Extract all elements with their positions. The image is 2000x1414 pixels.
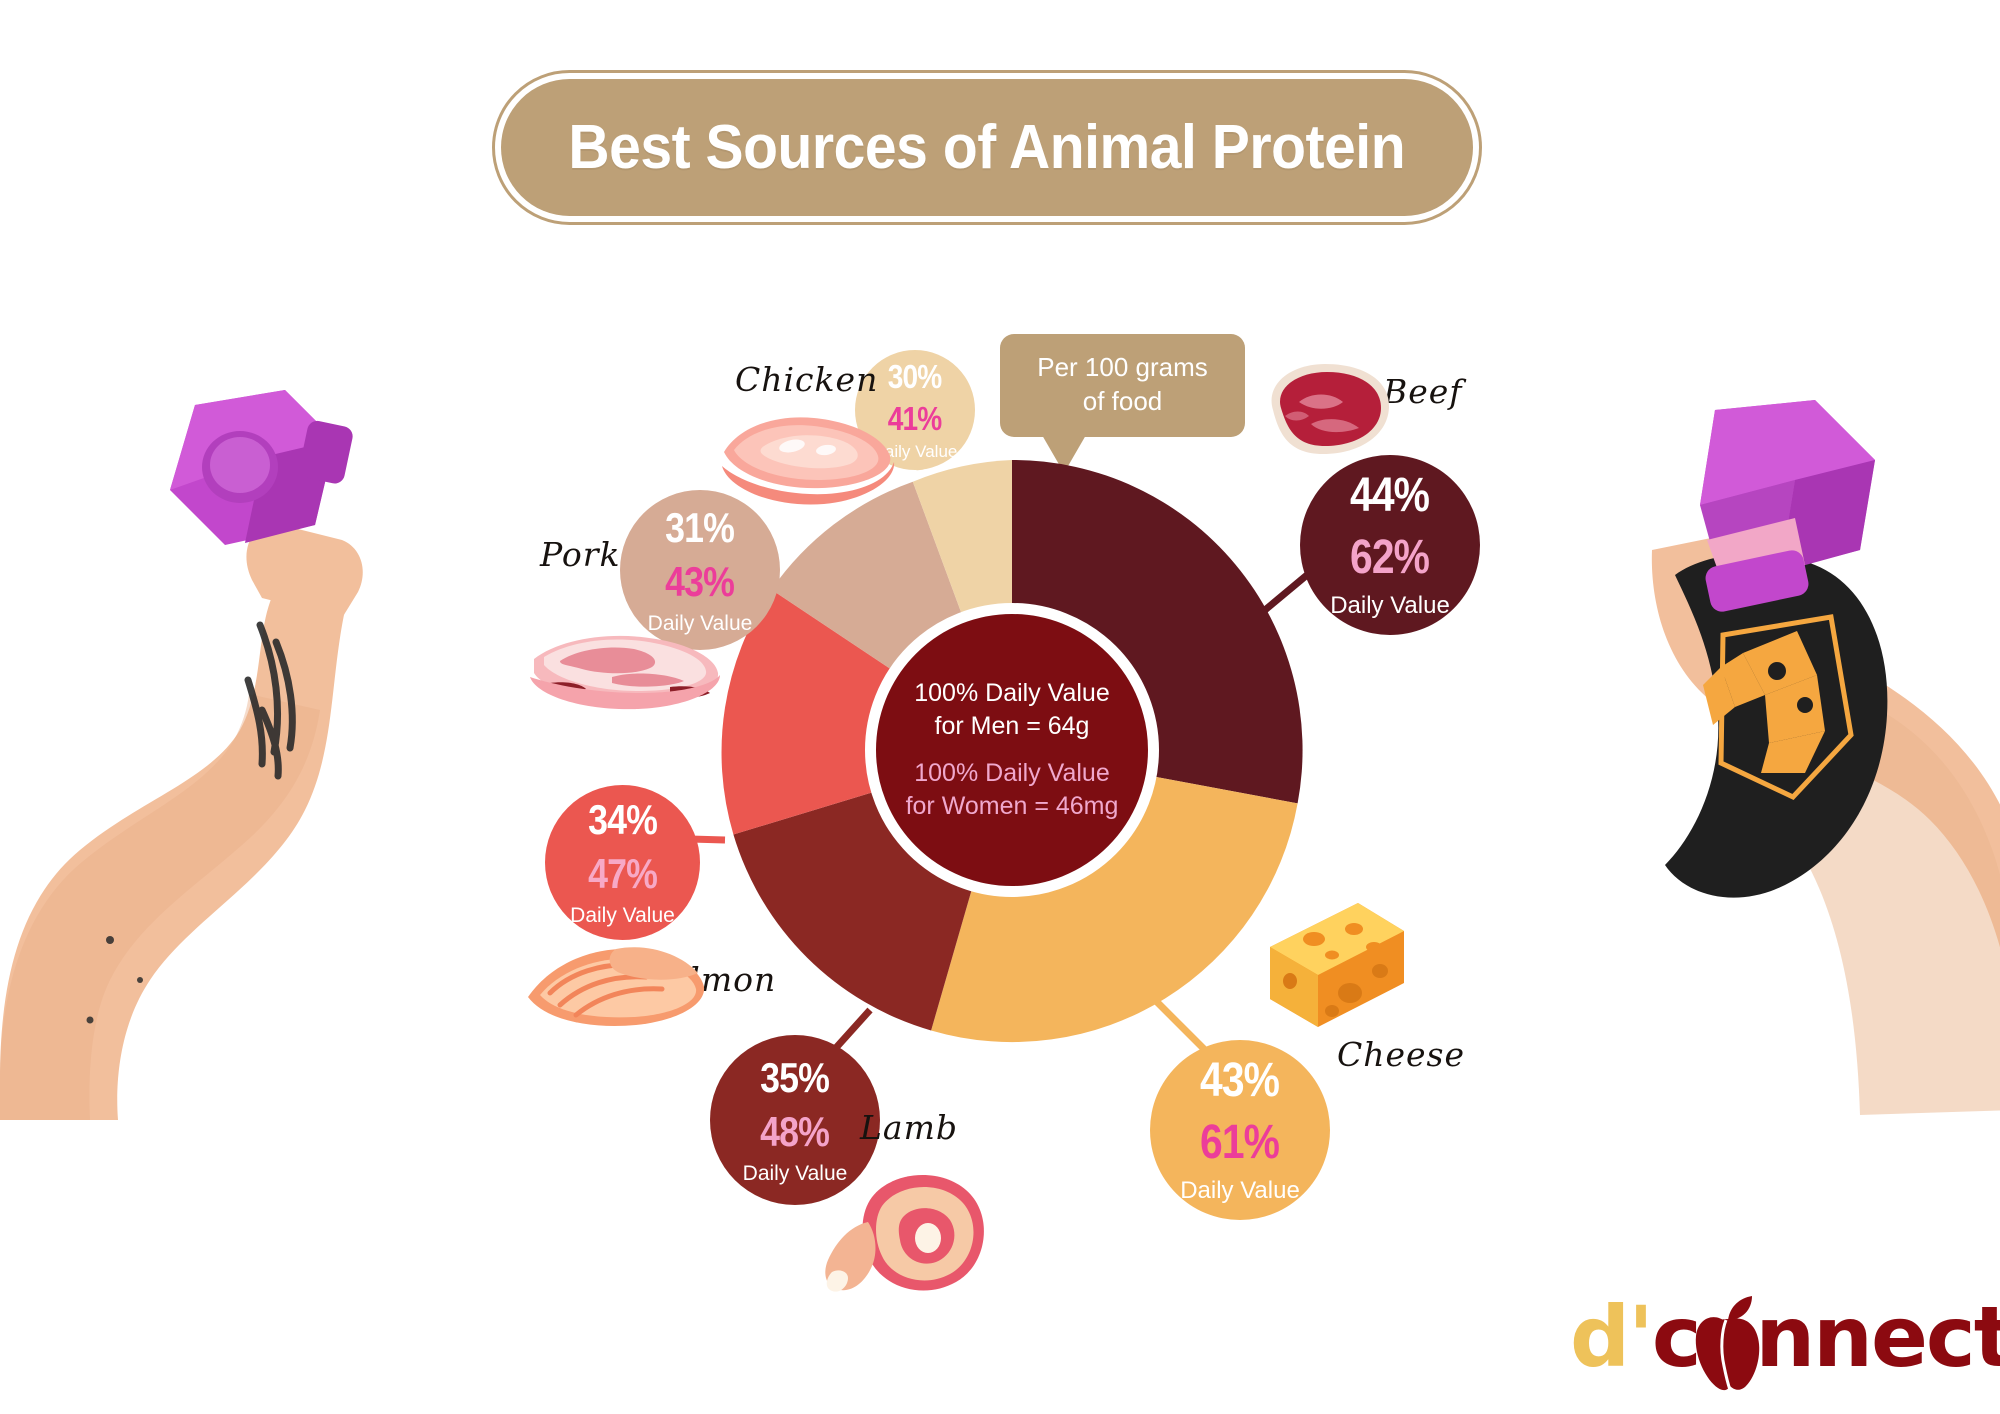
tooltip-line-2: of food (1014, 384, 1231, 418)
logo-apple-icon (1686, 1296, 1766, 1396)
callout-cheese[interactable]: 43% 61% Daily Value (1150, 1040, 1330, 1220)
brand-logo[interactable]: d'connect (1570, 1288, 1970, 1398)
title-bar: Best Sources of Animal Protein (501, 79, 1473, 216)
beef-daily-value-label: Daily Value (1330, 594, 1450, 618)
cheese-wedge-icon (1262, 895, 1412, 1035)
center-women-line-1: 100% Daily Value (906, 757, 1119, 790)
cheese-women-value: 61% (1200, 1119, 1279, 1167)
lamb-men-value: 35% (761, 1057, 830, 1099)
protein-donut-chart: 100% Daily Value for Men = 64g 100% Dail… (717, 455, 1307, 1045)
center-men-line-2: for Men = 64g (914, 710, 1109, 743)
food-label-pork: Pork (540, 535, 621, 574)
callout-salmon[interactable]: 34% 47% Daily Value (545, 785, 700, 940)
beef-men-value: 44% (1350, 472, 1429, 520)
food-label-cheese: Cheese (1337, 1035, 1465, 1074)
center-men-text: 100% Daily Value for Men = 64g (914, 677, 1109, 743)
right-dumbbell-icon (1645, 400, 1895, 620)
pork-men-value: 31% (666, 507, 735, 549)
pork-cuts-icon (520, 595, 730, 740)
cheese-men-value: 43% (1200, 1057, 1279, 1105)
infographic-canvas: Best Sources of Animal Protein Per 100 g… (0, 0, 2000, 1414)
center-men-line-1: 100% Daily Value (914, 677, 1109, 710)
logo-prefix: d' (1570, 1288, 1652, 1386)
left-dumbbell-icon (135, 385, 355, 585)
center-women-text: 100% Daily Value for Women = 46mg (906, 757, 1119, 823)
beef-steak-icon (1255, 358, 1395, 463)
callout-beef[interactable]: 44% 62% Daily Value (1300, 455, 1480, 635)
center-women-line-2: for Women = 46mg (906, 790, 1119, 823)
salmon-men-value: 34% (588, 799, 657, 841)
beef-women-value: 62% (1350, 534, 1429, 582)
logo-wordmark: d'connect (1570, 1288, 2000, 1386)
salmon-fillet-icon (520, 925, 710, 1055)
lamb-chop-icon (818, 1160, 998, 1300)
salmon-women-value: 47% (588, 853, 657, 895)
food-label-chicken: Chicken (735, 360, 878, 399)
title-text: Best Sources of Animal Protein (569, 112, 1406, 183)
per-100-grams-tooltip: Per 100 grams of food (1000, 334, 1245, 437)
cheese-daily-value-label: Daily Value (1180, 1179, 1300, 1203)
salmon-daily-value-label: Daily Value (570, 905, 675, 926)
tooltip-line-1: Per 100 grams (1014, 350, 1231, 384)
chicken-men-value: 30% (888, 360, 942, 393)
food-label-lamb: Lamb (860, 1108, 958, 1147)
lamb-women-value: 48% (761, 1111, 830, 1153)
donut-center-label: 100% Daily Value for Men = 64g 100% Dail… (865, 603, 1159, 897)
chicken-breast-icon (718, 400, 898, 510)
page-title: Best Sources of Animal Protein (492, 70, 1482, 225)
